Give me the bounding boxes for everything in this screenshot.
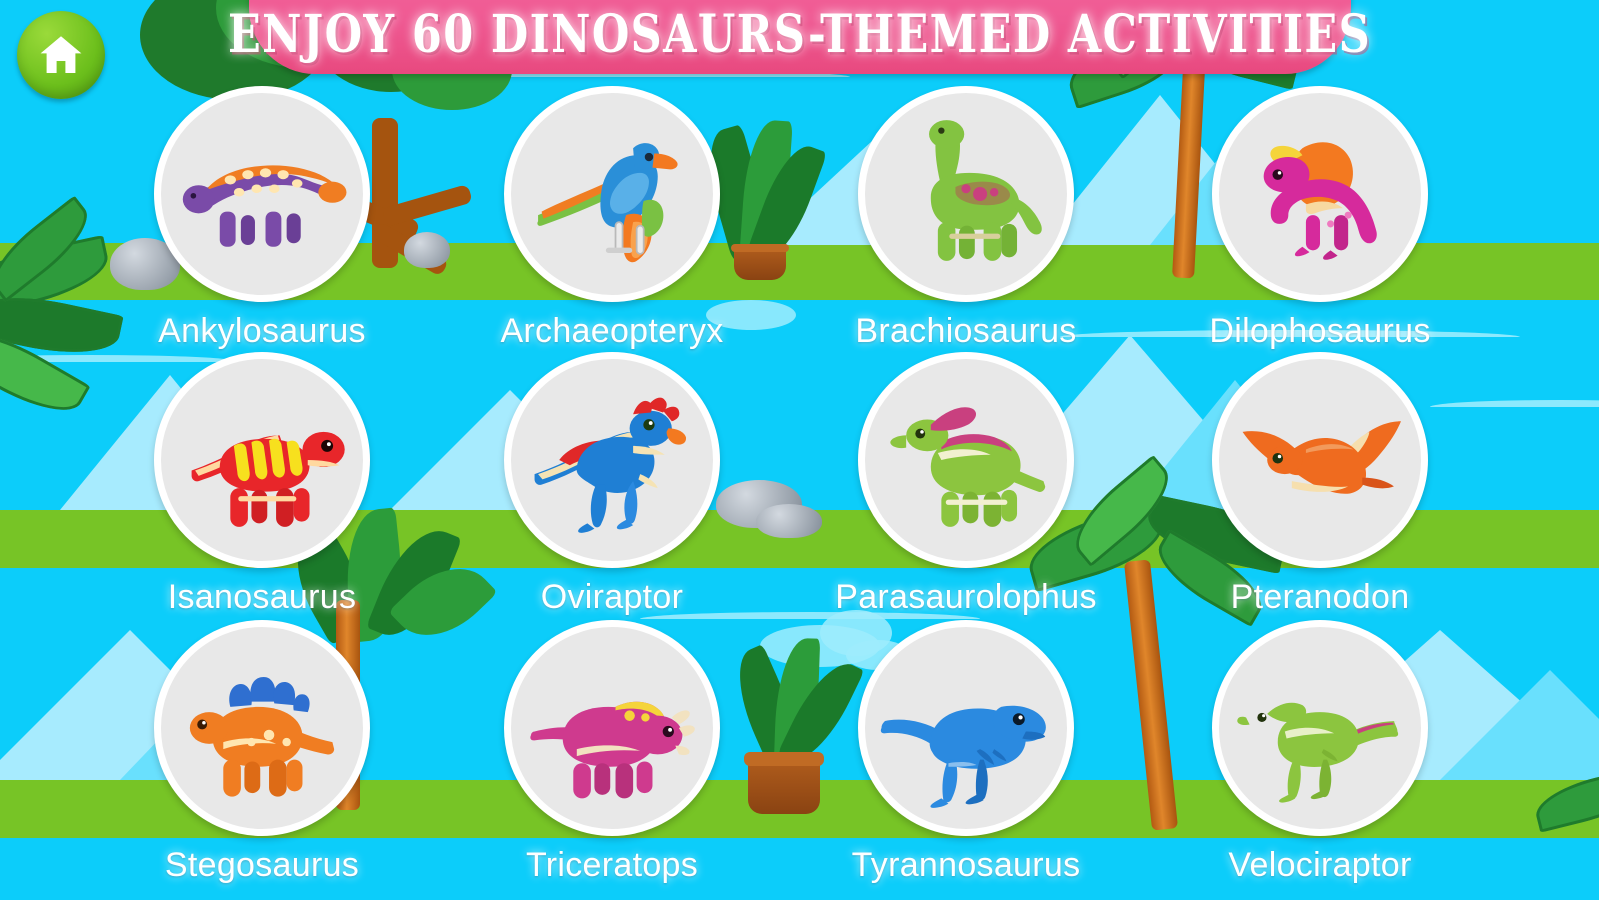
dino-velociraptor-icon [1232, 640, 1408, 816]
thumbnail-dilophosaurus[interactable] [1212, 86, 1428, 302]
grid-item-label: Triceratops [526, 846, 698, 885]
dino-archaeopteryx-icon [524, 106, 700, 282]
thumbnail-tyrannosaurus[interactable] [858, 620, 1074, 836]
grid-item-label: Ankylosaurus [158, 312, 366, 351]
grid-item-label: Pteranodon [1231, 578, 1410, 617]
dino-stegosaurus-icon [174, 640, 350, 816]
dino-parasaurolophus-icon [878, 372, 1054, 548]
grid-item-label: Parasaurolophus [835, 578, 1097, 617]
promo-banner: ENJOY 60 DINOSAURS-THEMED ACTIVITIES [249, 0, 1351, 74]
grid-item-parasaurolophus[interactable]: Parasaurolophus [836, 352, 1096, 617]
thumbnail-ankylosaurus[interactable] [154, 86, 370, 302]
thumbnail-oviraptor[interactable] [504, 352, 720, 568]
dino-ankylosaurus-icon [174, 106, 350, 282]
grid-item-isanosaurus[interactable]: Isanosaurus [132, 352, 392, 617]
thumbnail-archaeopteryx[interactable] [504, 86, 720, 302]
dino-oviraptor-icon [524, 372, 700, 548]
home-button[interactable] [17, 11, 105, 99]
dino-tyrannosaurus-icon [878, 640, 1054, 816]
dino-triceratops-icon [524, 640, 700, 816]
banner-title: ENJOY 60 DINOSAURS-THEMED ACTIVITIES [228, 5, 1371, 66]
grid-item-label: Velociraptor [1228, 846, 1411, 885]
thumbnail-brachiosaurus[interactable] [858, 86, 1074, 302]
thumbnail-pteranodon[interactable] [1212, 352, 1428, 568]
grid-item-label: Oviraptor [541, 578, 684, 617]
thumbnail-stegosaurus[interactable] [154, 620, 370, 836]
grid-item-label: Stegosaurus [165, 846, 359, 885]
dino-isanosaurus-icon [174, 372, 350, 548]
grid-item-label: Tyrannosaurus [852, 846, 1081, 885]
grid-item-triceratops[interactable]: Triceratops [482, 620, 742, 885]
thumbnail-parasaurolophus[interactable] [858, 352, 1074, 568]
home-icon [37, 31, 85, 79]
grid-item-brachiosaurus[interactable]: Brachiosaurus [836, 86, 1096, 351]
dino-brachiosaurus-icon [878, 106, 1054, 282]
dino-pteranodon-icon [1232, 372, 1408, 548]
thumbnail-isanosaurus[interactable] [154, 352, 370, 568]
grid-item-label: Archaeopteryx [500, 312, 723, 351]
grid-item-stegosaurus[interactable]: Stegosaurus [132, 620, 392, 885]
grid-item-label: Isanosaurus [168, 578, 357, 617]
thumbnail-velociraptor[interactable] [1212, 620, 1428, 836]
activity-grid: Ankylosaurus Archaeopteryx [0, 0, 1599, 900]
grid-item-label: Dilophosaurus [1209, 312, 1430, 351]
dino-dilophosaurus-icon [1232, 106, 1408, 282]
grid-item-velociraptor[interactable]: Velociraptor [1190, 620, 1450, 885]
thumbnail-triceratops[interactable] [504, 620, 720, 836]
grid-item-ankylosaurus[interactable]: Ankylosaurus [132, 86, 392, 351]
grid-item-oviraptor[interactable]: Oviraptor [482, 352, 742, 617]
grid-item-archaeopteryx[interactable]: Archaeopteryx [482, 86, 742, 351]
grid-item-label: Brachiosaurus [855, 312, 1076, 351]
grid-item-pteranodon[interactable]: Pteranodon [1190, 352, 1450, 617]
grid-item-dilophosaurus[interactable]: Dilophosaurus [1190, 86, 1450, 351]
grid-item-tyrannosaurus[interactable]: Tyrannosaurus [836, 620, 1096, 885]
